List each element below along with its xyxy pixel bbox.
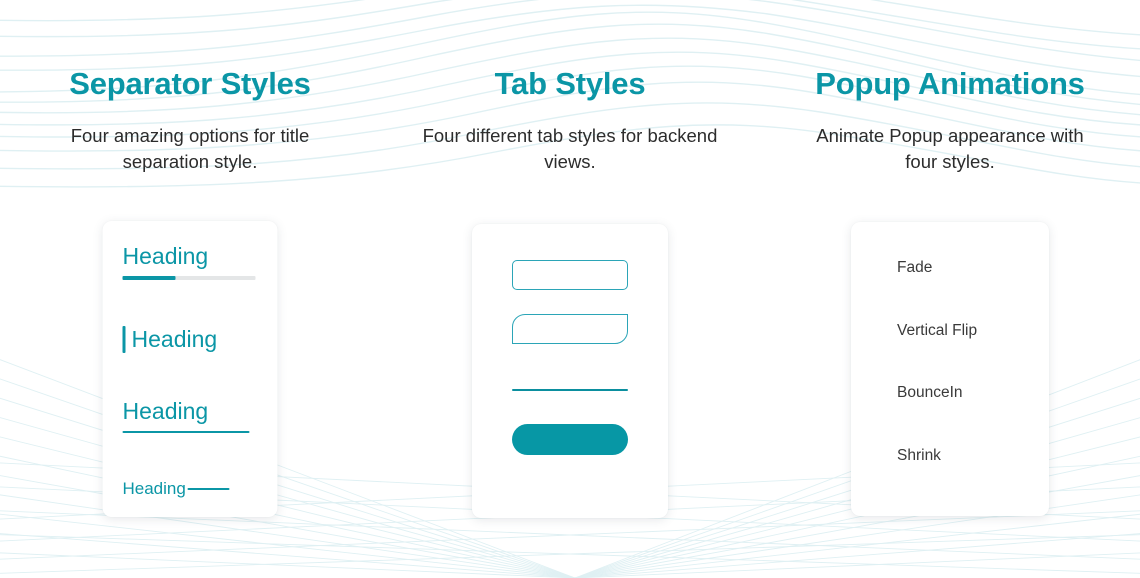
feature-columns: Separator Styles Four amazing options fo… — [0, 0, 1140, 578]
column-subtitle: Animate Popup appearance with four style… — [800, 123, 1100, 177]
separator-heading-label: Heading — [123, 479, 186, 499]
column-separator-styles: Separator Styles Four amazing options fo… — [0, 0, 380, 578]
separator-style-left-bar[interactable]: Heading — [123, 326, 258, 352]
popup-animations-card: Fade Vertical Flip BounceIn Shrink — [851, 222, 1049, 516]
separator-style-inline-line[interactable]: Heading — [123, 479, 258, 499]
separator-heading-label: Heading — [132, 326, 218, 352]
column-subtitle: Four amazing options for title separatio… — [40, 123, 340, 177]
separator-styles-card: Heading Heading Heading Heading — [103, 221, 278, 517]
separator-style-underline-full[interactable]: Heading — [123, 398, 258, 433]
separator-trailing-line — [188, 488, 230, 491]
popup-animation-option-vertical-flip[interactable]: Vertical Flip — [851, 323, 977, 339]
column-title: Tab Styles — [495, 68, 646, 101]
page-root: Separator Styles Four amazing options fo… — [0, 0, 1140, 578]
tab-style-underline[interactable] — [512, 389, 628, 391]
tab-style-rounded-rect[interactable] — [512, 260, 628, 290]
separator-heading-label: Heading — [123, 243, 258, 269]
popup-animation-option-bouncein[interactable]: BounceIn — [851, 385, 963, 401]
column-tab-styles: Tab Styles Four different tab styles for… — [380, 0, 760, 578]
separator-heading-label: Heading — [123, 398, 258, 424]
separator-rule-partial — [123, 276, 256, 280]
column-title: Popup Animations — [815, 68, 1084, 101]
popup-animation-option-fade[interactable]: Fade — [851, 260, 932, 276]
tab-style-filled-pill[interactable] — [512, 424, 628, 455]
popup-animation-option-shrink[interactable]: Shrink — [851, 448, 941, 464]
tab-style-diagonal-corner[interactable] — [512, 314, 628, 344]
column-subtitle: Four different tab styles for backend vi… — [420, 123, 720, 177]
column-title: Separator Styles — [69, 68, 310, 101]
tab-styles-card — [472, 224, 668, 518]
column-popup-animations: Popup Animations Animate Popup appearanc… — [760, 0, 1140, 578]
separator-style-underline-partial[interactable]: Heading — [123, 243, 258, 280]
separator-vertical-bar — [123, 326, 126, 352]
separator-rule-full — [123, 431, 250, 434]
